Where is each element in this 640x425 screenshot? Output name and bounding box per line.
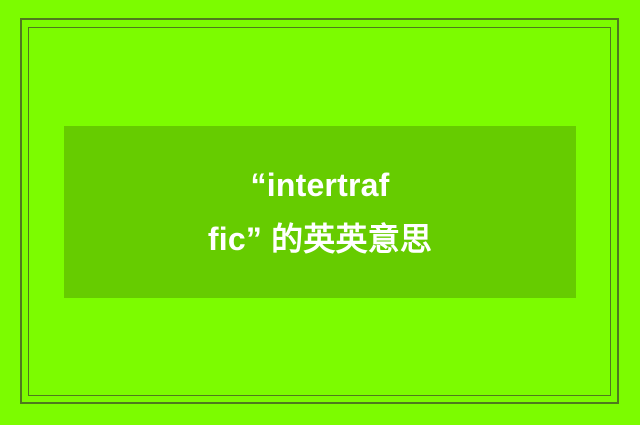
headline-line-2: fic” 的英英意思	[208, 212, 432, 266]
headline-title: “intertraf fic” 的英英意思	[208, 158, 432, 266]
content-panel: “intertraf fic” 的英英意思	[64, 126, 576, 298]
page-canvas: “intertraf fic” 的英英意思	[0, 0, 640, 425]
headline-line-1: “intertraf	[208, 158, 432, 212]
